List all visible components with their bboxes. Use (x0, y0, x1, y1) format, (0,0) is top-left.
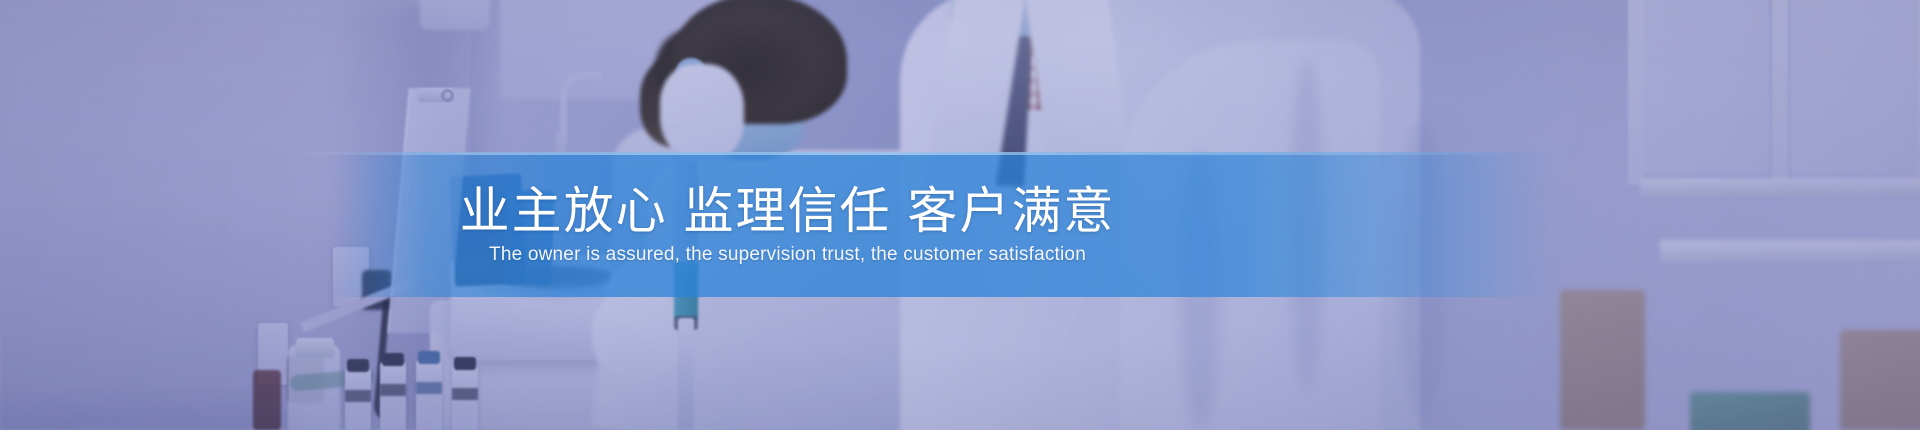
banner-text-block: 业主放心 监理信任 客户满意 The owner is assured, the… (0, 152, 1575, 297)
banner-subheadline: The owner is assured, the supervision tr… (489, 244, 1086, 266)
hero-banner: 业主放心 监理信任 客户满意 The owner is assured, the… (0, 0, 1920, 430)
banner-headline: 业主放心 监理信任 客户满意 (460, 184, 1116, 238)
